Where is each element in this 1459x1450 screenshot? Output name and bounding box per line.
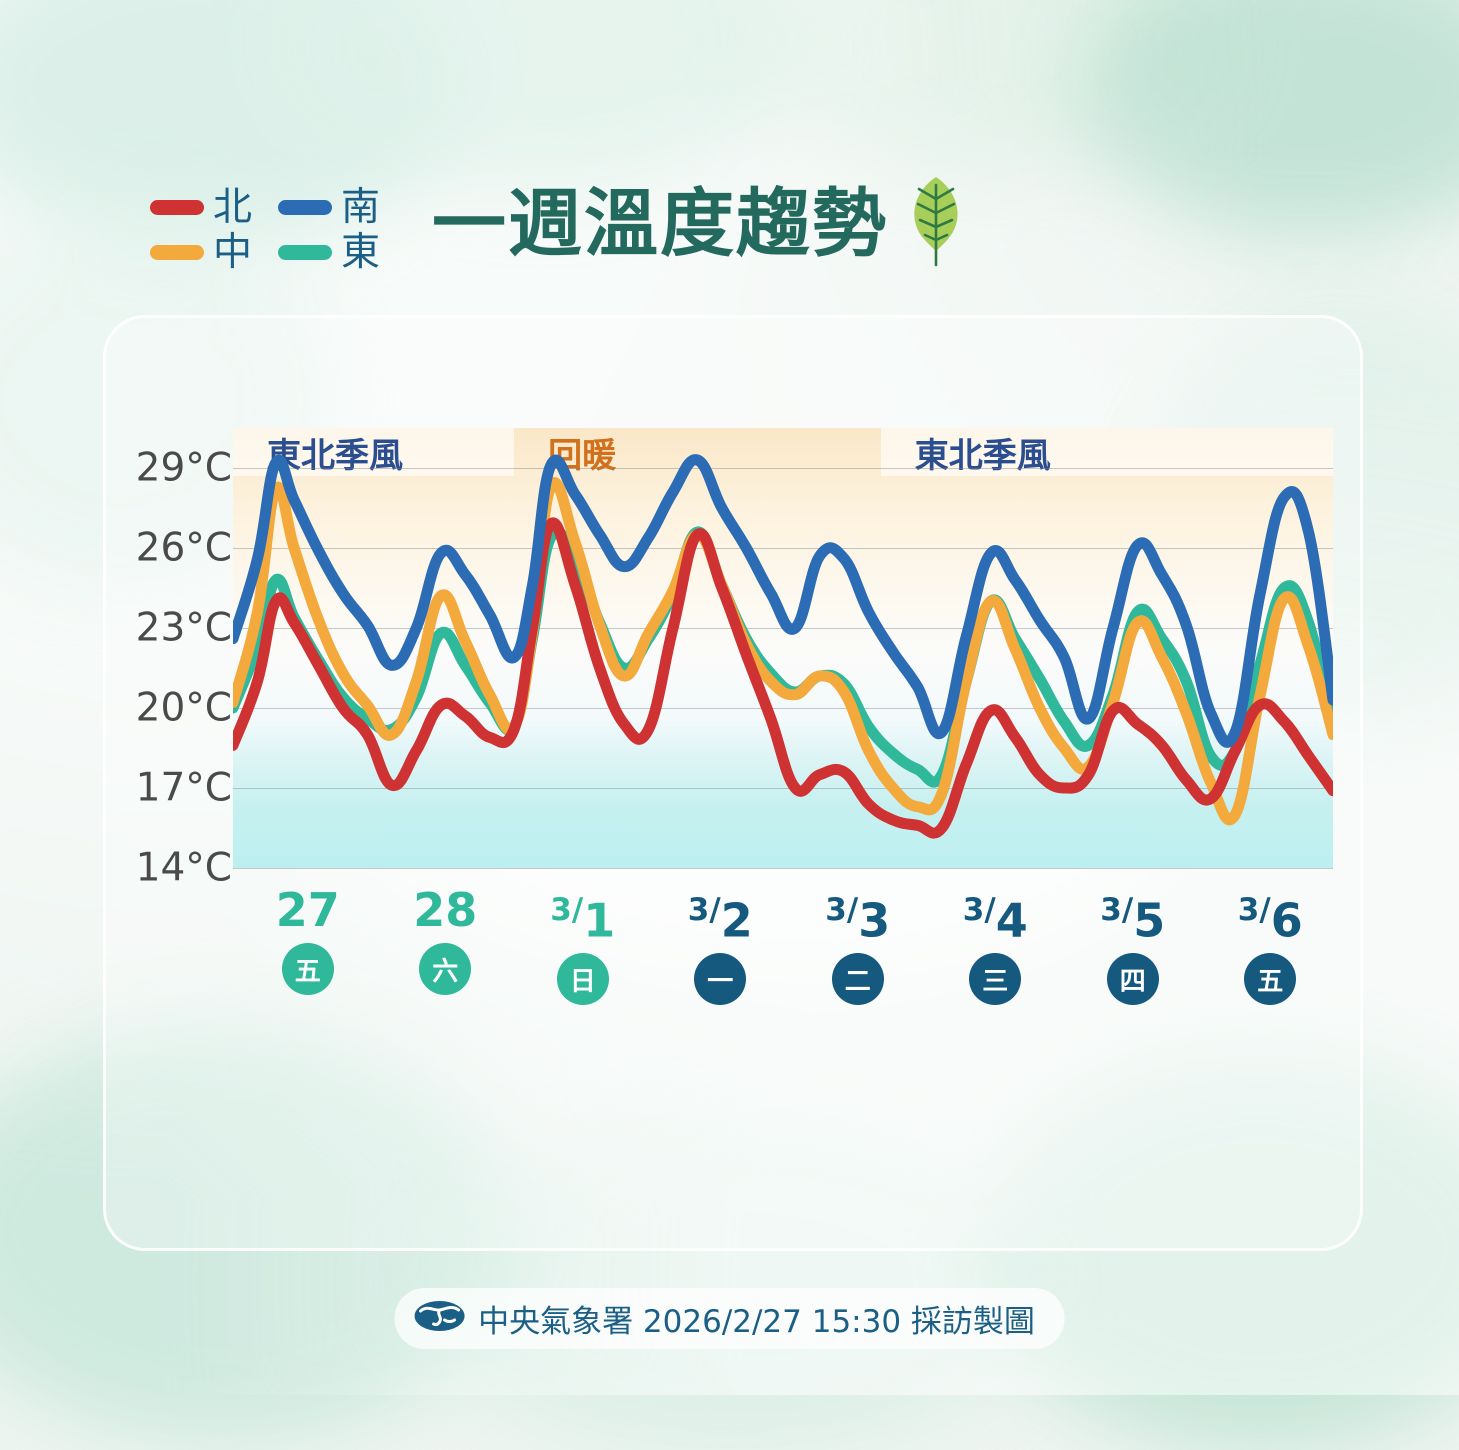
x-date-label: 28	[413, 885, 477, 935]
y-tick-label: 14°C	[136, 849, 232, 888]
x-weekday-badge: 三	[969, 953, 1021, 1005]
x-date-label: 3/3	[825, 885, 890, 945]
legend-label-south: 南	[341, 188, 380, 227]
x-axis-column-3-2: 3/2一	[660, 885, 780, 1005]
x-weekday-badge: 二	[832, 953, 884, 1005]
x-weekday-badge: 五	[1244, 953, 1296, 1005]
y-axis: 29°C26°C23°C20°C17°C14°C	[112, 428, 232, 868]
x-axis-column-3-6: 3/6五	[1210, 885, 1330, 1005]
title-text: 一週溫度趨勢	[432, 185, 888, 263]
gridline	[233, 868, 1333, 869]
x-axis-column-3-5: 3/5四	[1073, 885, 1193, 1005]
page-title: 一週溫度趨勢	[432, 175, 968, 272]
x-weekday-badge: 一	[694, 953, 746, 1005]
footer-text: 中央氣象署 2026/2/27 15:30 採訪製圖	[478, 1296, 1035, 1341]
y-tick-label: 26°C	[136, 529, 232, 568]
x-axis-column-28: 28六	[385, 885, 505, 995]
x-axis-column-3-4: 3/4三	[935, 885, 1055, 1005]
y-tick-label: 29°C	[136, 449, 232, 488]
legend-swatch-east	[278, 245, 332, 260]
cwa-logo-icon	[414, 1298, 464, 1339]
x-axis-column-3-1: 3/1日	[523, 885, 643, 1005]
x-date-label: 27	[276, 885, 340, 935]
legend-item-south: 南	[278, 188, 380, 227]
x-date-label: 3/1	[550, 885, 615, 945]
temperature-chart: 東北季風回暖東北季風	[233, 428, 1333, 868]
legend-swatch-central	[150, 245, 204, 260]
x-date-label: 3/6	[1238, 885, 1303, 945]
x-date-label: 3/2	[688, 885, 753, 945]
legend-swatch-north	[150, 200, 204, 215]
y-tick-label: 17°C	[136, 769, 232, 808]
leaf-icon	[904, 175, 968, 272]
x-weekday-badge: 四	[1107, 953, 1159, 1005]
legend-item-north: 北	[150, 188, 252, 227]
legend: 北 南 中 東	[150, 188, 380, 272]
x-weekday-badge: 六	[419, 943, 471, 995]
footer: 中央氣象署 2026/2/27 15:30 採訪製圖	[394, 1288, 1065, 1349]
line-series-south	[233, 460, 1333, 743]
x-date-label: 3/4	[963, 885, 1028, 945]
x-axis: 27五28六3/1日3/2一3/3二3/4三3/5四3/6五	[233, 885, 1333, 1005]
y-tick-label: 20°C	[136, 689, 232, 728]
x-axis-column-27: 27五	[248, 885, 368, 995]
x-weekday-badge: 日	[557, 953, 609, 1005]
x-date-label: 3/5	[1100, 885, 1165, 945]
chart-lines	[233, 428, 1333, 868]
legend-label-central: 中	[213, 233, 252, 272]
y-tick-label: 23°C	[136, 609, 232, 648]
legend-label-north: 北	[213, 188, 252, 227]
legend-item-central: 中	[150, 233, 252, 272]
legend-label-east: 東	[341, 233, 380, 272]
x-axis-column-3-3: 3/3二	[798, 885, 918, 1005]
x-weekday-badge: 五	[282, 943, 334, 995]
legend-item-east: 東	[278, 233, 380, 272]
legend-swatch-south	[278, 200, 332, 215]
